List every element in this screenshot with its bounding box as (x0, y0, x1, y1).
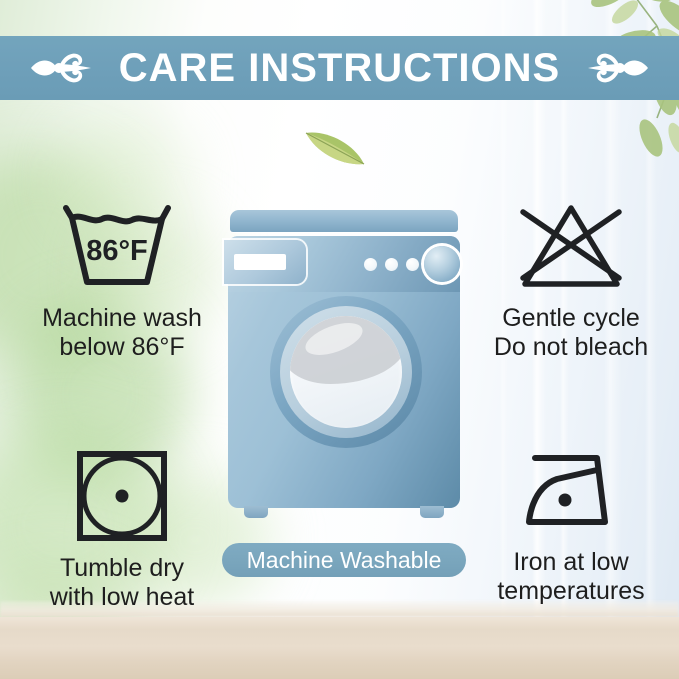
care-instructions-infographic: CARE INSTRUCTIONS 86°F (0, 0, 679, 679)
washer-display-frame (224, 240, 306, 284)
washer-button (385, 258, 398, 271)
washer-lid (230, 210, 458, 232)
care-symbol-label: Tumble dry with low heat (50, 554, 195, 612)
washer-dial-knob (424, 246, 460, 282)
wooden-table-surface (0, 617, 679, 679)
leaf-icon (303, 124, 367, 168)
machine-washable-badge: Machine Washable (222, 543, 466, 577)
care-symbol-label: Iron at low temperatures (497, 548, 644, 606)
care-symbol-do-not-bleach: Gentle cycle Do not bleach (466, 198, 676, 362)
care-symbol-iron: Iron at low temperatures (466, 448, 676, 606)
washer-button (406, 258, 419, 271)
triangle-crossed-icon (513, 198, 629, 294)
iron-icon (513, 448, 629, 538)
care-symbol-label: Gentle cycle Do not bleach (494, 304, 648, 362)
page-title: CARE INSTRUCTIONS (119, 48, 560, 88)
wash-tub-icon: 86°F (58, 198, 186, 294)
washer-button (364, 258, 377, 271)
care-symbol-tumble-dry: Tumble dry with low heat (14, 448, 230, 612)
washer-door-glass (290, 316, 402, 428)
wash-temperature-value: 86°F (86, 235, 148, 267)
washing-machine-icon (228, 210, 460, 530)
washer-display (234, 254, 286, 270)
care-symbol-machine-wash: 86°F Machine wash below 86°F (14, 198, 230, 362)
fleur-de-lis-icon (586, 45, 650, 91)
tumble-dry-icon (72, 448, 172, 544)
header-banner: CARE INSTRUCTIONS (0, 36, 679, 100)
washer-foot (244, 506, 268, 518)
badge-label: Machine Washable (247, 549, 442, 572)
care-symbol-label: Machine wash below 86°F (42, 304, 202, 362)
washer-foot (420, 506, 444, 518)
fleur-de-lis-icon (29, 45, 93, 91)
